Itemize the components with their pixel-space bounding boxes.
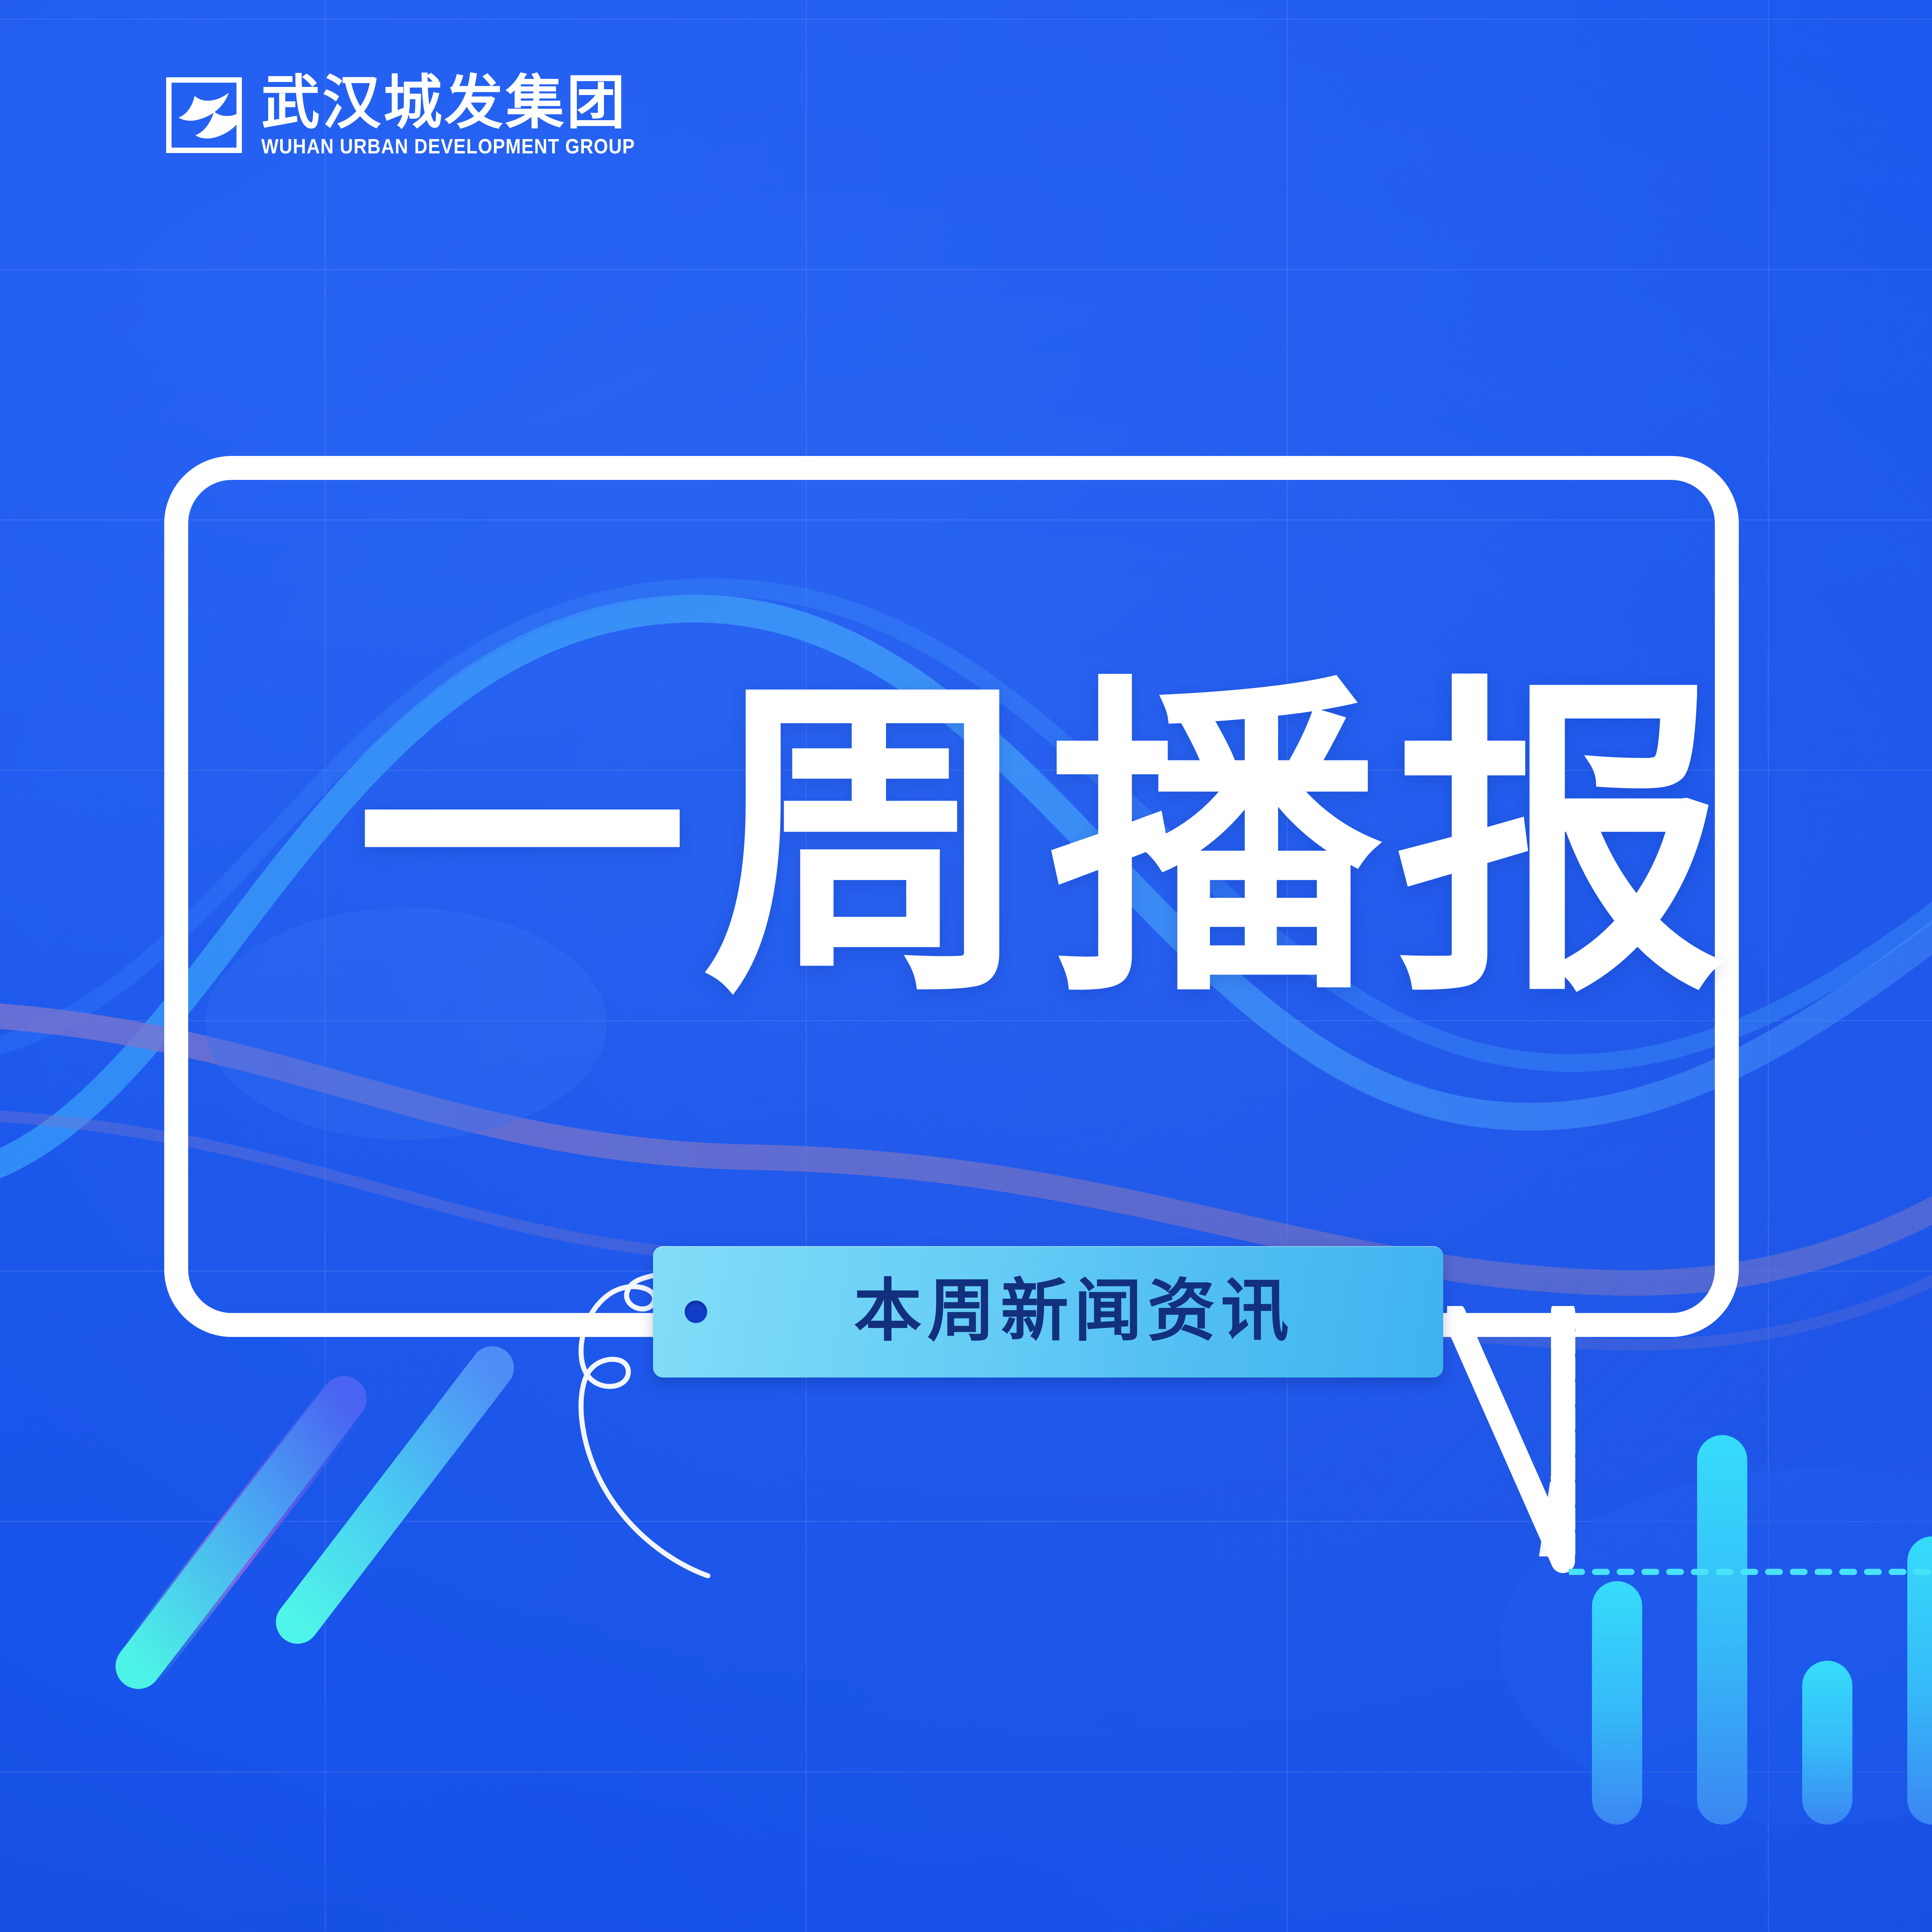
news-tag-badge[interactable]: 本周新闻资讯 <box>653 1246 1443 1378</box>
logo-icon <box>166 77 242 153</box>
chart-bar <box>1592 1581 1642 1825</box>
brand-text-block: 武汉城发集团 WUHAN URBAN DEVELOPMENT GROUP <box>261 73 686 157</box>
chart-bar <box>1802 1661 1852 1825</box>
bar-chart-decoration: X <box>1569 1422 1932 1839</box>
tag-eyelet-hole-icon <box>685 1301 707 1323</box>
news-tag-label: 本周新闻资讯 <box>848 1278 1294 1346</box>
chart-bar <box>1697 1435 1747 1825</box>
weekly-broadcast-poster: 武汉城发集团 WUHAN URBAN DEVELOPMENT GROUP 一周播… <box>0 0 1932 1932</box>
brand-lockup: 武汉城发集团 WUHAN URBAN DEVELOPMENT GROUP <box>166 73 686 157</box>
brand-name-cn: 武汉城发集团 <box>261 73 686 132</box>
page-title: 一周播报 <box>0 680 1932 1012</box>
brand-name-en: WUHAN URBAN DEVELOPMENT GROUP <box>261 136 635 157</box>
diagonal-bars-decoration <box>89 1345 611 1758</box>
chart-bars <box>1592 1435 1932 1825</box>
chart-bar <box>1907 1536 1932 1825</box>
